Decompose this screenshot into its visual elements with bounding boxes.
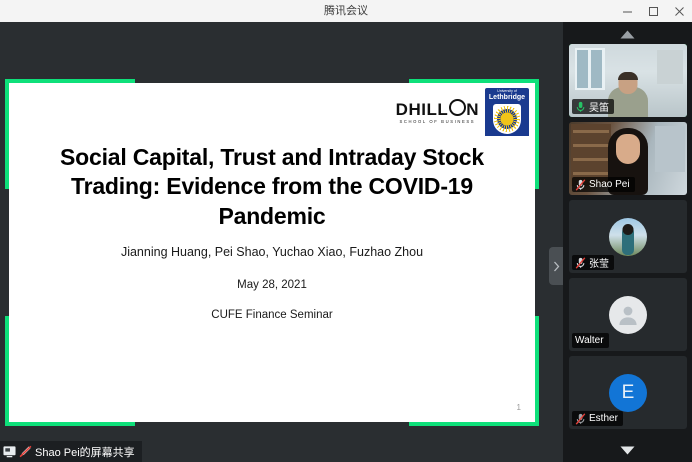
avatar — [609, 296, 647, 334]
participant-tile[interactable]: E Esther — [569, 356, 687, 429]
annotation-disabled-icon — [19, 445, 32, 458]
participant-name: Shao Pei — [589, 179, 630, 190]
participant-name-badge: Shao Pei — [572, 177, 635, 192]
participant-tile[interactable]: 张莹 — [569, 200, 687, 273]
participant-rail: 吴笛 Shao Pei — [563, 22, 692, 462]
microphone-off-icon — [575, 257, 586, 269]
share-border-bottom-right — [409, 422, 539, 426]
dhillon-subtitle: SCHOOL OF BUSINESS — [400, 120, 476, 124]
participant-scroll-down-button[interactable] — [563, 440, 692, 460]
dhillon-wordmark-tail: N — [466, 100, 479, 119]
institution-logo: DHILLN SCHOOL OF BUSINESS University of … — [396, 88, 529, 136]
crest-line2: Lethbridge — [485, 94, 529, 101]
participant-name: 吴笛 — [589, 99, 609, 114]
participant-name: Walter — [575, 335, 604, 346]
collapse-panel-handle[interactable] — [549, 247, 563, 285]
chevron-right-icon — [553, 261, 560, 272]
share-border-right-top — [535, 79, 539, 189]
participant-name-badge: 吴笛 — [572, 99, 614, 114]
person-placeholder-icon — [616, 303, 640, 327]
screen-share-frame: DHILLN SCHOOL OF BUSINESS University of … — [5, 79, 539, 426]
triangle-up-icon — [620, 30, 635, 39]
participant-name-badge: Walter — [572, 333, 609, 348]
microphone-on-icon — [575, 101, 586, 113]
avatar — [609, 218, 647, 256]
maximize-button[interactable] — [640, 0, 666, 22]
participant-tile[interactable]: 吴笛 — [569, 44, 687, 117]
tencent-meeting-window: 腾讯会议 DHILLN SCHOO — [0, 0, 692, 462]
participant-scroll-up-button[interactable] — [563, 24, 692, 44]
participant-tile[interactable]: Shao Pei — [569, 122, 687, 195]
crest-sunburst-icon — [497, 109, 517, 129]
participant-name: 张莹 — [589, 255, 609, 270]
microphone-off-icon — [575, 179, 586, 191]
crest-line1: University of — [485, 89, 529, 94]
shared-screen-stage: DHILLN SCHOOL OF BUSINESS University of … — [0, 22, 563, 462]
slide-authors: Jianning Huang, Pei Shao, Yuchao Xiao, F… — [39, 245, 505, 259]
participant-name-badge: Esther — [572, 411, 623, 426]
share-border-right-bottom — [535, 316, 539, 426]
crest-shield-icon — [493, 104, 521, 134]
presentation-slide: DHILLN SCHOOL OF BUSINESS University of … — [9, 83, 535, 422]
slide-venue: CUFE Finance Seminar — [39, 309, 505, 321]
dhillon-wordmark-text: DHILL — [396, 100, 449, 119]
participant-name: Esther — [589, 413, 618, 424]
slide-page-number: 1 — [517, 403, 521, 412]
slide-date: May 28, 2021 — [39, 279, 505, 291]
screen-share-status-bar: Shao Pei的屏幕共享 — [0, 441, 142, 462]
dhillon-o-ring-icon — [449, 99, 466, 116]
participant-name-badge: 张莹 — [572, 255, 614, 270]
lethbridge-crest-icon: University of Lethbridge — [485, 88, 529, 136]
screen-share-icon — [3, 445, 16, 458]
window-titlebar: 腾讯会议 — [0, 0, 692, 23]
participant-tile[interactable]: Walter — [569, 278, 687, 351]
microphone-off-icon — [575, 413, 586, 425]
share-border-bottom-left — [5, 422, 135, 426]
screen-share-status-label: Shao Pei的屏幕共享 — [35, 444, 135, 460]
dhillon-school-logo: DHILLN SCHOOL OF BUSINESS — [396, 99, 479, 124]
avatar: E — [609, 374, 647, 412]
slide-title: Social Capital, Trust and Intraday Stock… — [39, 143, 505, 231]
triangle-down-icon — [620, 446, 635, 455]
close-button[interactable] — [666, 0, 692, 22]
dhillon-wordmark: DHILLN — [396, 99, 479, 118]
minimize-button[interactable] — [614, 0, 640, 22]
avatar-initial: E — [622, 382, 635, 404]
window-title: 腾讯会议 — [0, 0, 692, 22]
